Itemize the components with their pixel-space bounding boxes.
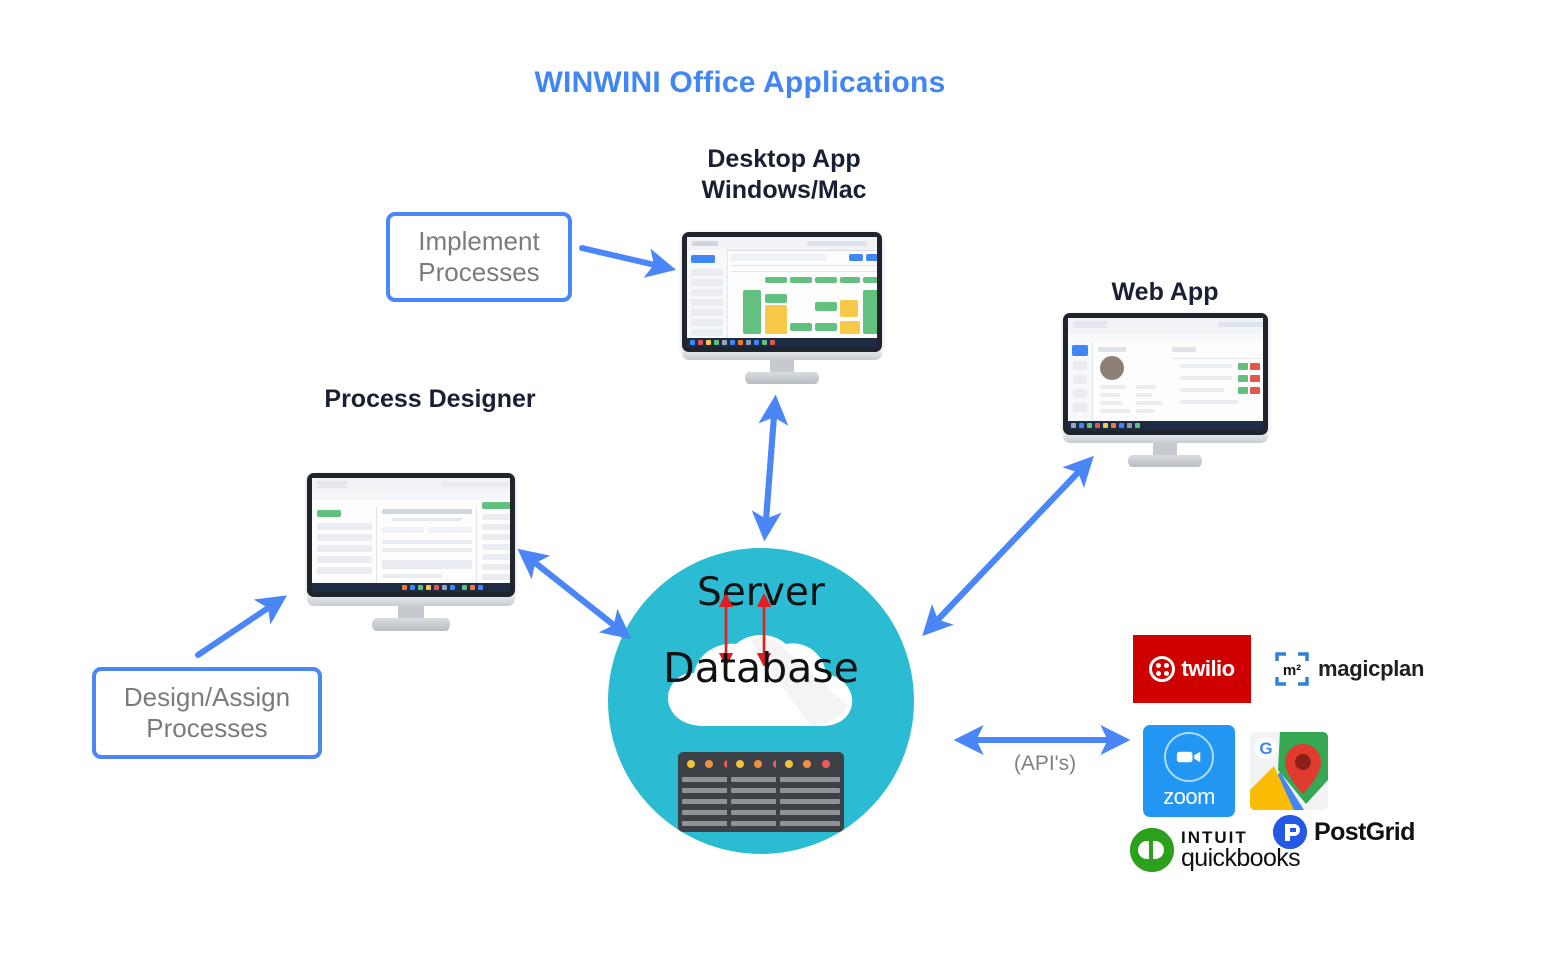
googlemaps-logo[interactable]: G	[1250, 732, 1328, 810]
quickbooks-label: quickbooks	[1181, 846, 1300, 871]
arrow-design-to-designer	[198, 600, 280, 655]
postgrid-label: PostGrid	[1314, 818, 1415, 847]
zoom-camera-icon	[1164, 732, 1214, 782]
svg-text:G: G	[1259, 739, 1272, 758]
integration-logo-group: twilio m² magicplan zoom	[1125, 630, 1455, 880]
screen-scheduler-calendar	[687, 237, 877, 347]
magicplan-label: magicplan	[1318, 656, 1424, 682]
googlemaps-icon: G	[1250, 732, 1328, 810]
screen-profile-page	[1068, 318, 1263, 430]
zoom-label: zoom	[1163, 784, 1215, 810]
magicplan-icon: m²	[1275, 652, 1309, 686]
twilio-label: twilio	[1181, 656, 1234, 682]
magicplan-logo[interactable]: m² magicplan	[1275, 652, 1424, 686]
callout-design-assign-processes[interactable]: Design/Assign Processes	[92, 667, 322, 759]
screen-form-designer	[312, 478, 510, 592]
api-connector-label: (API's)	[965, 752, 1125, 776]
arrow-web-to-server	[928, 462, 1088, 630]
postgrid-icon	[1273, 815, 1307, 849]
arrow-desktop-to-server	[765, 403, 775, 533]
zoom-logo[interactable]: zoom	[1143, 725, 1235, 817]
device-desktop-app-monitor[interactable]	[682, 232, 882, 384]
quickbooks-icon	[1130, 828, 1174, 872]
twilio-icon	[1149, 656, 1175, 682]
arrow-server-to-desktop	[765, 403, 775, 533]
twilio-logo[interactable]: twilio	[1133, 635, 1251, 703]
node-server-database[interactable]: Server Database	[608, 548, 914, 854]
postgrid-logo[interactable]: PostGrid	[1273, 815, 1415, 849]
server-rack	[776, 752, 844, 832]
node-label-desktop-app: Desktop App Windows/Mac	[654, 144, 914, 205]
svg-text:m²: m²	[1283, 662, 1301, 679]
node-label-web-app: Web App	[1060, 277, 1270, 308]
device-web-app-monitor[interactable]	[1063, 313, 1268, 468]
database-label: Database	[608, 644, 914, 692]
arrow-implement-to-desktop	[582, 248, 668, 268]
node-label-process-designer: Process Designer	[300, 384, 560, 415]
diagram-canvas: WINWINI Office Applications Desktop App …	[0, 0, 1542, 960]
page-title: WINWINI Office Applications	[0, 66, 1480, 100]
device-process-designer-monitor[interactable]	[307, 473, 515, 633]
arrow-server-to-web	[928, 462, 1088, 630]
callout-implement-processes[interactable]: Implement Processes	[386, 212, 572, 302]
